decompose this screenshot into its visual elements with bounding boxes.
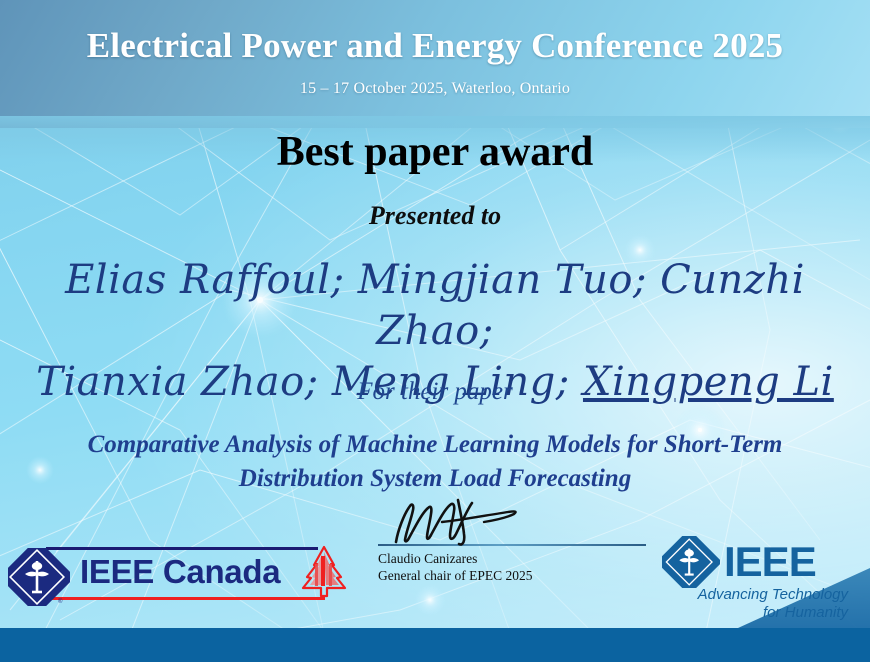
conference-title: Electrical Power and Energy Conference 2…: [0, 26, 870, 66]
ieee-tagline: Advancing Technology for Humanity: [662, 586, 848, 621]
signatory-role: General chair of EPEC 2025: [378, 567, 650, 584]
ieee-diamond-icon-right: [662, 536, 720, 593]
ieee-diamond-icon: ®: [8, 548, 70, 611]
ieee-wordmark: IEEE: [724, 538, 816, 586]
ieee-logo: IEEE Advancing Technology for Humanity: [662, 536, 852, 622]
ieee-canada-wordmark: IEEE Canada: [80, 553, 280, 591]
footer-bar: [0, 628, 870, 662]
for-their-paper-label: For their paper: [0, 378, 870, 406]
signature-block: Claudio Canizares General chair of EPEC …: [378, 498, 650, 585]
paper-title: Comparative Analysis of Machine Learning…: [24, 428, 846, 495]
ieee-canada-bottom-rule: [40, 597, 325, 600]
maple-leaf-icon: [293, 544, 355, 607]
handwritten-signature-icon: [378, 498, 650, 544]
ieee-tagline-line-2: for Humanity: [662, 604, 848, 622]
conference-subtitle: 15 – 17 October 2025, Waterloo, Ontario: [0, 80, 870, 98]
presented-to-label: Presented to: [0, 201, 870, 231]
award-title: Best paper award: [0, 128, 870, 176]
recipient-names-line-1: Elias Raffoul; Mingjian Tuo; Cunzhi Zhao…: [30, 255, 840, 357]
ieee-canada-top-rule: [46, 547, 318, 550]
signatory-name: Claudio Canizares: [378, 550, 650, 567]
ieee-tagline-line-1: Advancing Technology: [662, 586, 848, 604]
ieee-canada-logo: ® IEEE Canada: [8, 540, 354, 610]
svg-text:®: ®: [58, 598, 63, 605]
certificate: Electrical Power and Energy Conference 2…: [0, 0, 870, 662]
